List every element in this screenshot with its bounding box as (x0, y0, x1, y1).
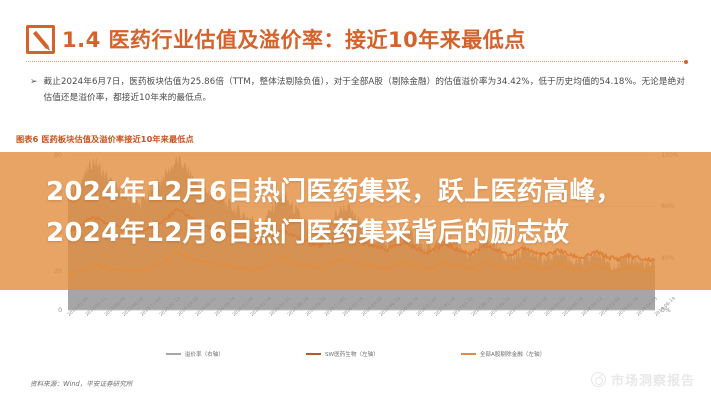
legend-item[interactable]: 全部A股剔除金融（左轴） (461, 350, 545, 358)
y-axis-right-tick: 120% (661, 152, 679, 159)
source-note: 资料来源：Wind，平安证券研究所 (30, 378, 132, 388)
y-axis-right-tick: 80% (661, 203, 675, 210)
body-block: ➢ 截止2024年6月7日，医药板块估值为25.86倍（TTM，整体法剔除负值）… (30, 74, 685, 106)
title-divider (26, 61, 685, 62)
page-title: 1.4 医药行业估值及溢价率：接近10年来最低点 (62, 24, 526, 54)
legend-item[interactable]: 溢价率（右轴） (166, 350, 224, 358)
body-paragraph: 截止2024年6月7日，医药板块估值为25.86倍（TTM，整体法剔除负值），对… (44, 74, 685, 106)
plot-area (0, 150, 711, 315)
y-axis-left-tick: 60 (40, 190, 62, 197)
slide-header: 1.4 医药行业估值及溢价率：接近10年来最低点 (0, 0, 711, 66)
y-axis-left-tick: 40 (40, 229, 62, 236)
legend-label: 溢价率（右轴） (185, 350, 224, 358)
y-axis-right-tick: 40% (661, 255, 675, 262)
slide-page: 1.4 医药行业估值及溢价率：接近10年来最低点 ➢ 截止2024年6月7日，医… (0, 0, 711, 400)
weibo-icon (591, 372, 606, 387)
legend-label: 全部A股剔除金融（左轴） (480, 350, 545, 358)
chart-svg (0, 150, 711, 315)
page-title-row: 1.4 医药行业估值及溢价率：接近10年来最低点 (26, 24, 526, 54)
watermark-label: 市场洞察报告 (611, 370, 695, 389)
legend-swatch (166, 353, 181, 356)
note-pencil-icon (26, 25, 55, 54)
y-axis-left-tick: 20 (40, 268, 62, 275)
legend-swatch (461, 353, 476, 356)
chart-figure: 020406080 0%40%80%120% 2013-01-042013-03… (0, 150, 711, 370)
bullet-marker-icon: ➢ (30, 74, 38, 88)
body-bullet-line: ➢ 截止2024年6月7日，医药板块估值为25.86倍（TTM，整体法剔除负值）… (30, 74, 685, 106)
legend-swatch (306, 353, 321, 356)
figure-caption: 图表6 医药板块估值及溢价率接近10年来最低点 (16, 133, 194, 145)
legend-label: SW医药生物（左轴） (325, 350, 379, 358)
legend-item[interactable]: SW医药生物（左轴） (306, 350, 379, 358)
chart-legend: 溢价率（右轴）SW医药生物（左轴）全部A股剔除金融（左轴） (0, 350, 711, 358)
watermark: 市场洞察报告 (591, 370, 695, 389)
y-axis-left-tick: 80 (40, 152, 62, 159)
y-axis-left-tick: 0 (40, 307, 62, 314)
